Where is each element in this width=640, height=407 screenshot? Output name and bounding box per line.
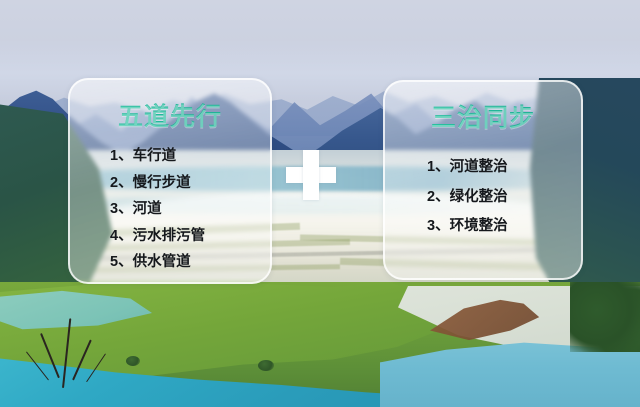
list-item-label: 慢行步道 (133, 176, 191, 191)
list-item: 3 、 河道 (110, 202, 270, 217)
shrub (126, 356, 140, 366)
plus-icon (286, 150, 336, 200)
list-item-number: 4 (110, 229, 118, 244)
list-item-label: 车行道 (133, 149, 177, 164)
list-item-number: 2 (427, 190, 435, 205)
list-item-number: 3 (110, 202, 118, 217)
list-item-separator: 、 (118, 229, 133, 244)
list-item-number: 2 (110, 176, 118, 191)
list-item-number: 1 (427, 160, 435, 175)
slide-canvas: 五道先行 1 、 车行道 2 、 慢行步道 3 、 河道 4 、 污水排污管 (0, 0, 640, 407)
list-item: 5 、 供水管道 (110, 255, 270, 270)
list-item-label: 供水管道 (133, 255, 191, 270)
list-item-separator: 、 (118, 176, 133, 191)
list-item-separator: 、 (435, 219, 450, 234)
list-item-separator: 、 (118, 255, 133, 270)
tree-grove-right (570, 282, 640, 352)
list-item-label: 绿化整治 (450, 190, 508, 205)
list-item-label: 河道整治 (450, 160, 508, 175)
list-item: 1 、 河道整治 (427, 160, 581, 175)
list-item: 2 、 绿化整治 (427, 190, 581, 205)
list-item-separator: 、 (435, 190, 450, 205)
card-right-list: 1 、 河道整治 2 、 绿化整治 3 、 环境整治 (385, 160, 581, 234)
list-item: 1 、 车行道 (110, 149, 270, 164)
card-left-list: 1 、 车行道 2 、 慢行步道 3 、 河道 4 、 污水排污管 5 、 (70, 149, 270, 270)
list-item: 4 、 污水排污管 (110, 229, 270, 244)
card-right-title: 三治同步 (385, 98, 581, 134)
list-item: 3 、 环境整治 (427, 219, 581, 234)
card-three-treatments[interactable]: 三治同步 1 、 河道整治 2 、 绿化整治 3 、 环境整治 (383, 80, 583, 280)
list-item-label: 环境整治 (450, 219, 508, 234)
plus-icon-vertical-bar (303, 150, 319, 200)
list-item-separator: 、 (435, 160, 450, 175)
list-item-separator: 、 (118, 149, 133, 164)
shrub (258, 360, 274, 371)
card-five-roads[interactable]: 五道先行 1 、 车行道 2 、 慢行步道 3 、 河道 4 、 污水排污管 (68, 78, 272, 284)
list-item-separator: 、 (118, 202, 133, 217)
list-item-label: 河道 (133, 202, 162, 217)
list-item-number: 3 (427, 219, 435, 234)
card-left-title: 五道先行 (70, 97, 270, 133)
list-item-label: 污水排污管 (133, 229, 206, 244)
list-item-number: 1 (110, 149, 118, 164)
list-item: 2 、 慢行步道 (110, 176, 270, 191)
list-item-number: 5 (110, 255, 118, 270)
